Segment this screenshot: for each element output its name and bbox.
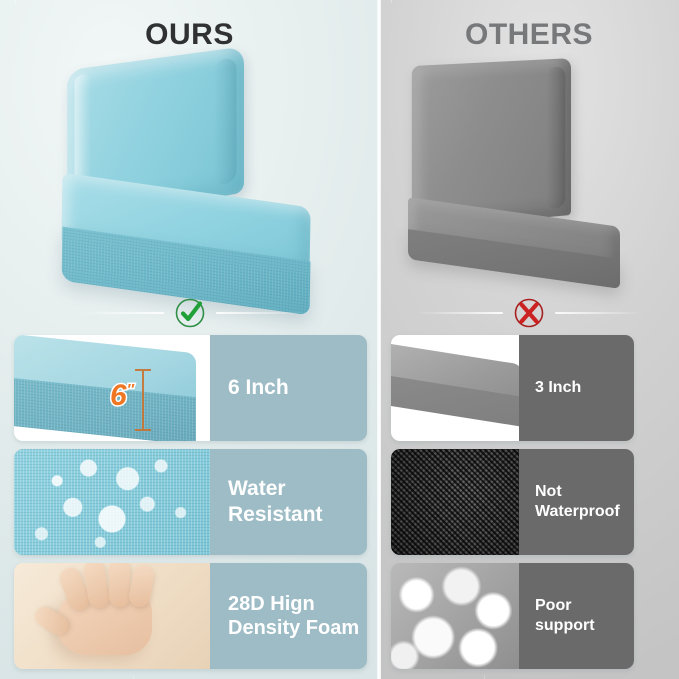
others-product-image (379, 52, 679, 292)
divider-line-left (76, 312, 164, 314)
feature-label-6-inch: 6 Inch (210, 335, 367, 441)
feature-label-water-resistant: Water Resistant (210, 449, 367, 555)
feature-card-not-waterproof: Not Waterproof (391, 449, 634, 555)
green-check-circle-icon (173, 296, 207, 330)
feature-label-density-foam: 28D Hign Density Foam (210, 563, 367, 669)
feature-label-poor-support: Poor support (519, 563, 634, 669)
feature-card-poor-support: Poor support (391, 563, 634, 669)
ours-feature-list: 6″ 6 Inch Water Resistant 28D Hign Densi… (0, 335, 379, 677)
finger-3 (109, 563, 130, 607)
comparison-board: OURS (0, 0, 679, 679)
ours-heading: OURS (0, 18, 379, 52)
water-droplets-photo (14, 449, 210, 555)
feature-label-3-inch: 3 Inch (519, 335, 634, 441)
thin-cushion-photo (391, 335, 519, 441)
ours-column: OURS (0, 0, 379, 679)
divider-line-right (555, 312, 643, 314)
divider-line-left (415, 312, 503, 314)
gray-cushion-set-illustration (404, 62, 644, 302)
feature-card-density-foam: 28D Hign Density Foam (14, 563, 367, 669)
hand-pressing-foam-photo (14, 563, 210, 669)
teal-cushion-set-illustration (62, 58, 322, 308)
feature-card-water-resistant: Water Resistant (14, 449, 367, 555)
others-column: OTHERS (379, 0, 679, 679)
cushion-thickness-photo: 6″ (14, 335, 210, 441)
dark-mesh-fabric-photo (391, 449, 519, 555)
ours-verdict-row (0, 292, 379, 334)
fiber-fill-photo (391, 563, 519, 669)
divider-line-right (216, 312, 304, 314)
ours-product-image (0, 52, 379, 292)
others-feature-list: 3 Inch Not Waterproof Poor support (379, 335, 679, 677)
others-heading: OTHERS (379, 18, 679, 52)
column-divider (377, 0, 381, 679)
thickness-measure-arrow (142, 369, 144, 431)
red-x-circle-icon (512, 296, 546, 330)
feature-card-3-inch: 3 Inch (391, 335, 634, 441)
finger-4 (128, 563, 156, 608)
feature-card-6-inch: 6″ 6 Inch (14, 335, 367, 441)
others-verdict-row (379, 292, 679, 334)
thickness-callout: 6″ (110, 379, 134, 413)
feature-label-not-waterproof: Not Waterproof (519, 449, 634, 555)
